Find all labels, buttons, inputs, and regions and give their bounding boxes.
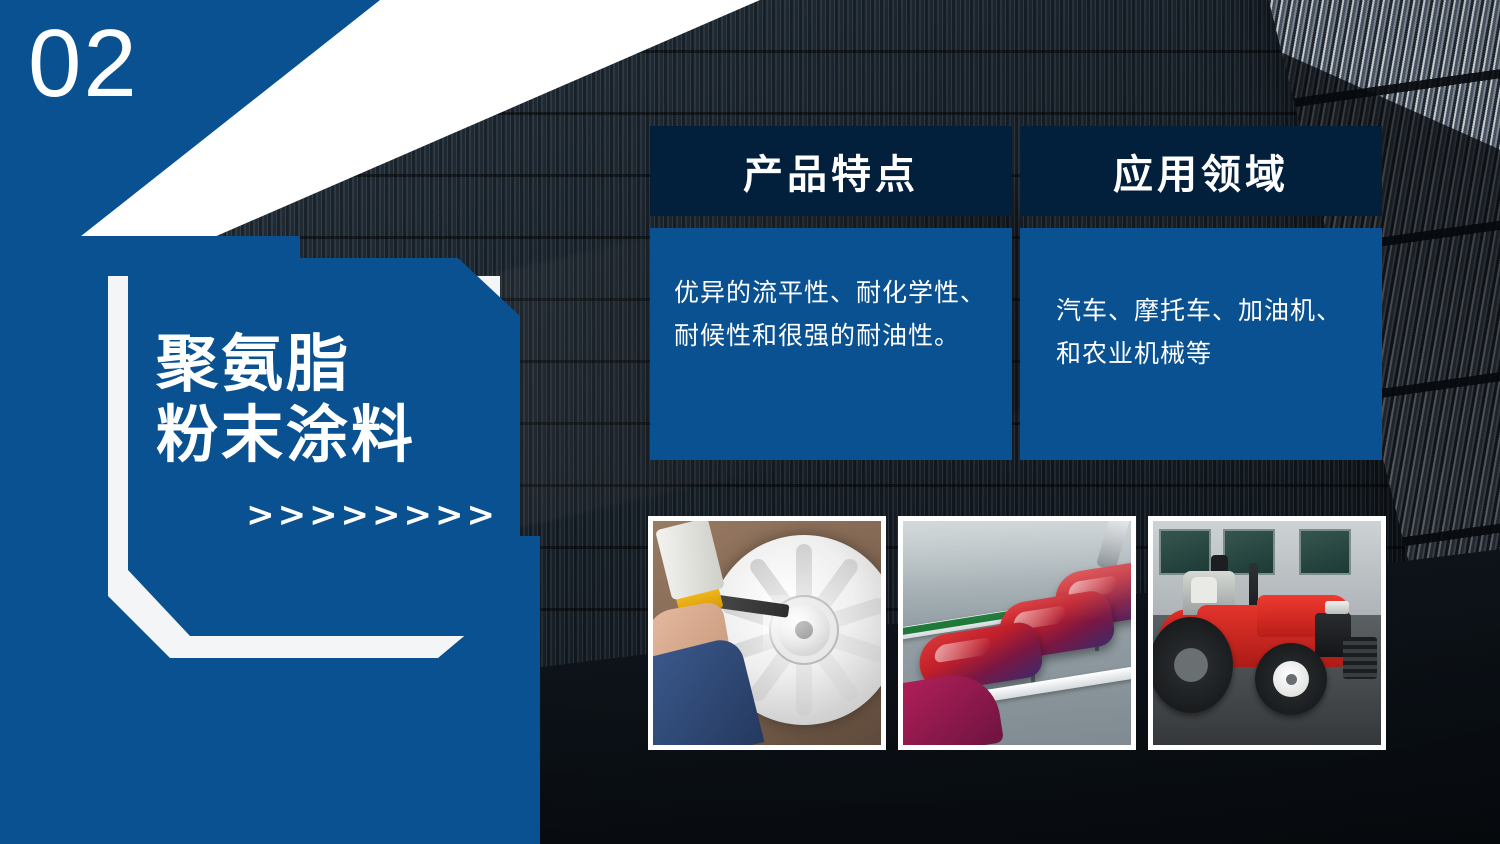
panel-heading-text: 应用领域 — [1113, 142, 1289, 200]
title-card: 聚氨脂 粉末涂料 >>>>>>>> — [128, 258, 520, 636]
photo-motorcycle-tank-line — [898, 516, 1136, 750]
photo-strip — [648, 516, 1386, 750]
tractor-front-weights — [1343, 637, 1377, 679]
title-card-group: 聚氨脂 粉末涂料 >>>>>>>> — [108, 258, 528, 658]
photo-powder-coating-wheel — [648, 516, 886, 750]
window — [1159, 529, 1211, 575]
panel-product-features: 产品特点 优异的流平性、耐化学性、耐候性和很强的耐油性。 — [650, 126, 1012, 460]
panel-header-application-fields: 应用领域 — [1020, 126, 1382, 216]
slide-number: 02 — [28, 16, 139, 112]
tractor-front-tire — [1255, 643, 1327, 715]
spray-gun-hopper — [655, 521, 725, 600]
chevron-arrows-icon: >>>>>>>> — [156, 495, 520, 535]
tractor-seat — [1191, 577, 1217, 603]
title-line-1: 聚氨脂 — [156, 330, 520, 401]
panel-header-product-features: 产品特点 — [650, 126, 1012, 216]
panel-body-text: 汽车、摩托车、加油机、和农业机械等 — [1056, 290, 1356, 376]
photo-image-wheel — [653, 521, 881, 745]
title-line-2: 粉末涂料 — [156, 401, 520, 472]
panel-application-fields: 应用领域 汽车、摩托车、加油机、和农业机械等 — [1020, 126, 1382, 460]
panel-body-application-fields: 汽车、摩托车、加油机、和农业机械等 — [1020, 228, 1382, 460]
photo-red-tractor — [1148, 516, 1386, 750]
info-panels: 产品特点 优异的流平性、耐化学性、耐候性和很强的耐油性。 应用领域 汽车、摩托车… — [650, 126, 1390, 460]
window — [1299, 529, 1351, 575]
tractor-wheel-rim — [1273, 661, 1309, 697]
panel-heading-text: 产品特点 — [743, 142, 919, 200]
slide-canvas: 02 聚氨脂 粉末涂料 >>>>>>>> 产品特点 优异的流平性、耐化学性、耐候… — [0, 0, 1500, 844]
panel-body-product-features: 优异的流平性、耐化学性、耐候性和很强的耐油性。 — [650, 228, 1012, 460]
photo-image-tractor — [1153, 521, 1381, 745]
tractor-headlight — [1325, 601, 1349, 614]
photo-image-tank-line — [903, 521, 1131, 745]
spray-haze — [903, 521, 1131, 745]
panel-body-text: 优异的流平性、耐化学性、耐候性和很强的耐油性。 — [674, 272, 986, 358]
